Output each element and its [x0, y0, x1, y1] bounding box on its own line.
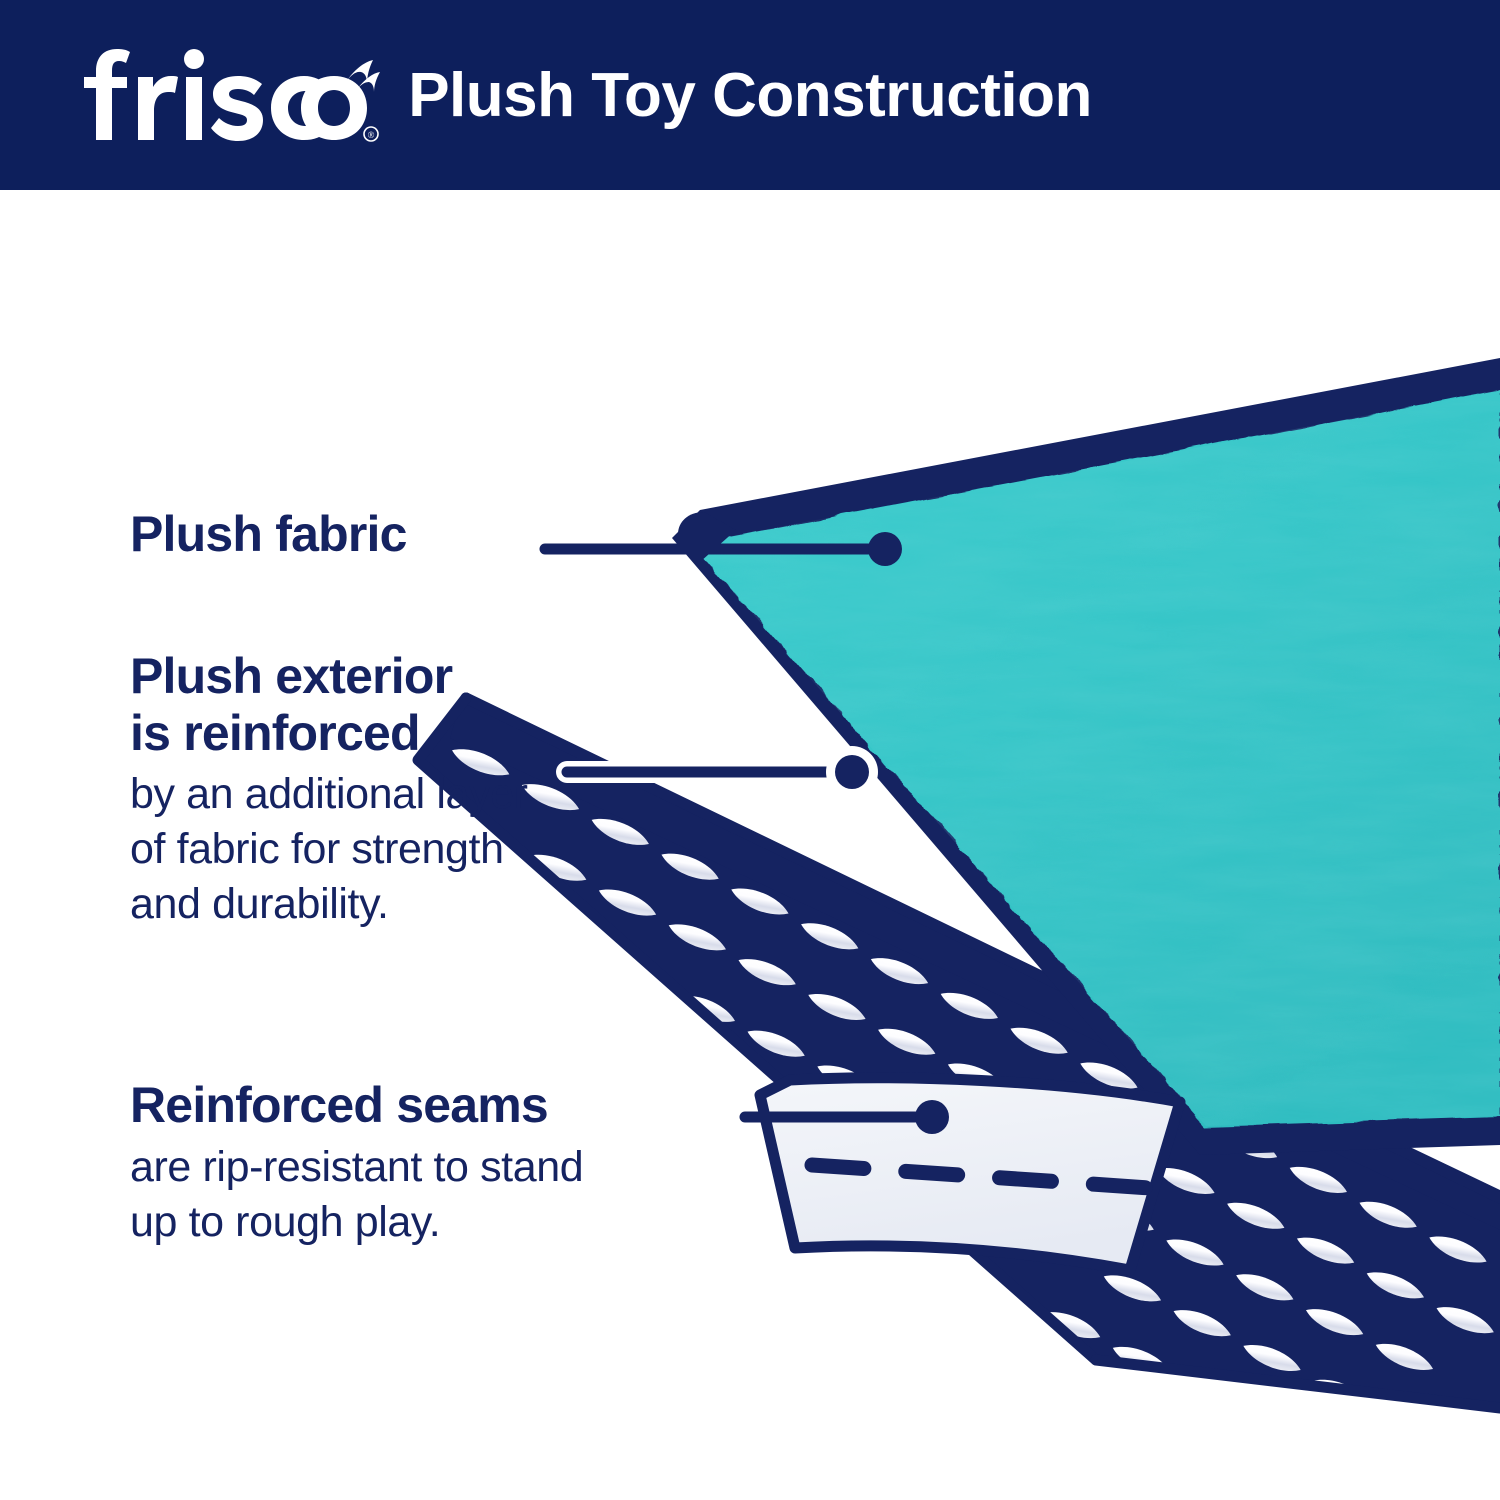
leader-dot-plush-exterior — [835, 755, 869, 789]
callout-headline: Plush exterior is reinforced — [130, 648, 528, 761]
callout-headline: Reinforced seams — [130, 1077, 583, 1134]
registered-trademark-icon: ® — [364, 127, 378, 141]
callout-body: by an additional layer of fabric for str… — [130, 767, 528, 932]
leader-dot-plush-fabric — [868, 532, 902, 566]
leader-dot-reinforced-seams — [915, 1100, 949, 1134]
frisco-logo: ® — [82, 48, 382, 144]
callout-reinforced-seams: Reinforced seams are rip-resistant to st… — [130, 1077, 583, 1250]
seam-flap-shape — [760, 1078, 1180, 1270]
seam-flap — [760, 1078, 1180, 1270]
header-bar: ® Plush Toy Construction — [0, 0, 1500, 190]
callout-body: are rip-resistant to stand up to rough p… — [130, 1140, 583, 1250]
svg-text:®: ® — [368, 130, 375, 140]
infographic-page: ® Plush Toy Construction — [0, 0, 1500, 1500]
callout-plush-fabric: Plush fabric — [130, 506, 407, 563]
frisco-wordmark-icon: ® — [82, 48, 382, 144]
callout-headline: Plush fabric — [130, 506, 407, 563]
callout-plush-exterior-reinforced: Plush exterior is reinforced by an addit… — [130, 648, 528, 932]
